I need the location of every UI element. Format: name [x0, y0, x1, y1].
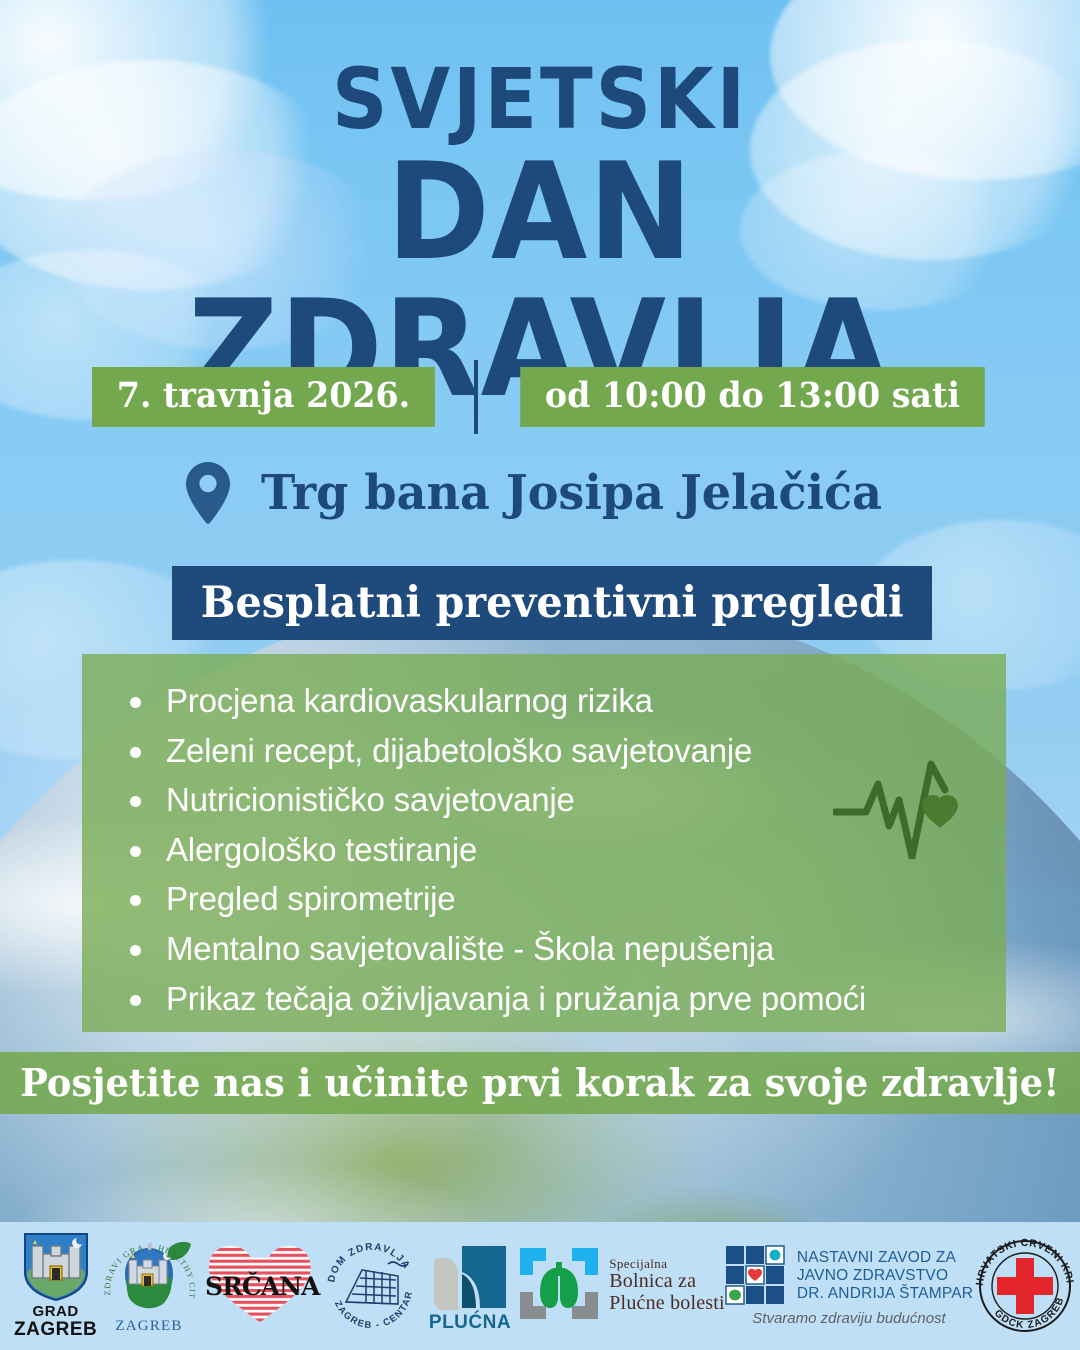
- nzjz-line2: JAVNO ZDRAVSTVO: [797, 1267, 973, 1285]
- svg-text:ZAGREB: ZAGREB: [116, 1318, 183, 1334]
- footer-logo-strip: GRAD ZAGREB: [0, 1222, 1080, 1350]
- sbpb-line3: Plućne bolesti: [609, 1293, 725, 1315]
- call-to-action-banner: Posjetite nas i učinite prvi korak za sv…: [0, 1052, 1080, 1114]
- svg-text:DOM ZDRAVLJA: DOM ZDRAVLJA: [327, 1242, 413, 1284]
- list-item: Mentalno savjetovalište - Škola nepušenj…: [122, 924, 1006, 974]
- meta-divider: [474, 360, 478, 434]
- plucna-lung-mark-icon: PLUĆNA: [422, 1238, 518, 1334]
- logo-nastavni-zavod-andrija-stampar: NASTAVNI ZAVOD ZA JAVNO ZDRAVSTVO DR. AN…: [725, 1245, 973, 1327]
- logo-hrvatski-crveni-kriz: HRVATSKI CRVENI KRIŽ GDCK ZAGREB: [973, 1234, 1077, 1338]
- grad-zagreb-line2: ZAGREB: [14, 1320, 97, 1340]
- stampar-grid-icon: [725, 1245, 787, 1307]
- grad-zagreb-caption: GRAD ZAGREB: [14, 1304, 97, 1340]
- logo-specijalna-bolnica-plucne-bolesti: Specijalna Bolnica za Plućne bolesti: [518, 1246, 725, 1326]
- poster-root: SVJETSKI DAN ZDRAVLJA 7. travnja 2026. o…: [0, 0, 1080, 1350]
- nzjz-tagline: Stvaramo zdraviju budućnost: [752, 1310, 945, 1327]
- list-item: Pregled spirometrije: [122, 874, 1006, 924]
- nzjz-name: NASTAVNI ZAVOD ZA JAVNO ZDRAVSTVO DR. AN…: [797, 1249, 973, 1303]
- red-cross-ring-icon: HRVATSKI CRVENI KRIŽ GDCK ZAGREB: [973, 1234, 1077, 1338]
- svg-text:PLUĆNA: PLUĆNA: [429, 1311, 511, 1333]
- title-line-1: SVJETSKI: [43, 58, 1037, 140]
- list-item: Procjena kardiovaskularnog rizika: [122, 676, 1006, 726]
- location-text: Trg bana Josipa Jelačića: [260, 469, 881, 517]
- logo-zdravi-grad-zagreb: ZDRAVI GRAD HEALTHY CITY ZAGREB: [97, 1236, 202, 1336]
- sbpb-caption: Specijalna Bolnica za Plućne bolesti: [609, 1257, 725, 1314]
- logo-plucna: PLUĆNA: [422, 1238, 518, 1334]
- apple-shield-icon: ZDRAVI GRAD HEALTHY CITY ZAGREB: [97, 1236, 202, 1336]
- logo-srcana: SRČANA SRČANA: [202, 1244, 322, 1328]
- map-pin-icon: [186, 462, 230, 524]
- time-badge: od 10:00 do 13:00 sati: [520, 367, 984, 427]
- section-heading-text: Besplatni preventivni pregledi: [201, 582, 904, 625]
- logo-grad-zagreb: GRAD ZAGREB: [14, 1232, 97, 1340]
- zagreb-coat-of-arms-icon: [23, 1232, 89, 1302]
- srcana-wordmark: SRČANA: [202, 1272, 322, 1301]
- section-heading-banner: Besplatni preventivni pregledi: [172, 566, 932, 640]
- services-list-box: Procjena kardiovaskularnog rizika Zeleni…: [82, 654, 1006, 1032]
- call-to-action-text: Posjetite nas i učinite prvi korak za sv…: [20, 1064, 1059, 1102]
- event-meta-row: 7. travnja 2026. od 10:00 do 13:00 sati: [0, 360, 1080, 434]
- nzjz-line3: DR. ANDRIJA ŠTAMPAR: [797, 1285, 973, 1303]
- location-row: Trg bana Josipa Jelačića: [0, 462, 1080, 524]
- lungs-bracket-icon: [518, 1246, 600, 1326]
- sbpb-line2: Bolnica za: [609, 1271, 725, 1293]
- nzjz-line1: NASTAVNI ZAVOD ZA: [797, 1249, 973, 1267]
- sbpb-line1: Specijalna: [609, 1257, 725, 1271]
- grad-zagreb-line1: GRAD: [14, 1304, 97, 1320]
- clinic-building-ring-icon: DOM ZDRAVLJA ZAGREB - CENTAR: [322, 1236, 422, 1336]
- date-badge: 7. travnja 2026.: [92, 367, 435, 427]
- list-item: Prikaz tečaja oživljavanja i pružanja pr…: [122, 974, 1006, 1024]
- logo-dom-zdravlja-zagreb-centar: DOM ZDRAVLJA ZAGREB - CENTAR: [322, 1236, 422, 1336]
